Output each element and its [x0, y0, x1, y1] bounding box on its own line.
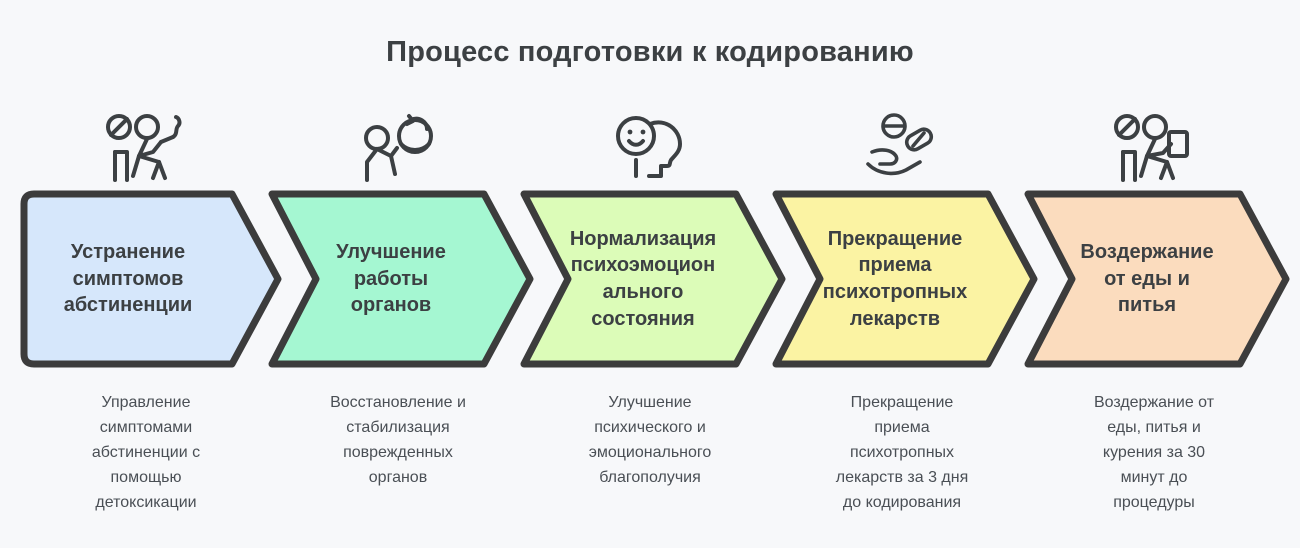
infographic-root: Процесс подготовки к кодированию [0, 0, 1300, 546]
step-caption-4: Прекращение приема психотропных лекарств… [778, 391, 1026, 516]
step-caption-5: Воздержание от еды, питья и курения за 3… [1030, 391, 1278, 516]
chevron-banner-4[interactable]: Прекращение приема психотропных лекарств [772, 190, 1047, 368]
person-smoking-prohibited-icon [16, 108, 276, 188]
process-step-3[interactable]: Нормализация психоэмоцион ального состоя… [520, 108, 780, 548]
step-caption-2: Восстановление и стабилизация поврежденн… [274, 391, 522, 491]
person-eating-prohibited-icon [1024, 108, 1284, 188]
process-step-2[interactable]: Улучшение работы органов Восстановление … [268, 108, 528, 548]
head-smiley-mind-icon [520, 108, 780, 188]
chevron-banner-2[interactable]: Улучшение работы органов [268, 190, 543, 368]
process-step-5[interactable]: Воздержание от еды и питья Воздержание о… [1024, 108, 1284, 548]
page-title: Процесс подготовки к кодированию [0, 36, 1300, 69]
chevron-banner-3[interactable]: Нормализация психоэмоцион ального состоя… [520, 190, 795, 368]
process-step-1[interactable]: Устранение симптомов абстиненции Управле… [16, 108, 276, 548]
chevron-banner-1[interactable]: Устранение симптомов абстиненции [16, 190, 291, 368]
hand-holding-pills-icon [772, 108, 1032, 188]
process-step-4[interactable]: Прекращение приема психотропных лекарств… [772, 108, 1032, 548]
chevron-banner-5[interactable]: Воздержание от еды и питья [1024, 190, 1299, 368]
process-steps: Устранение симптомов абстиненции Управле… [0, 108, 1300, 548]
person-recovery-refresh-icon [268, 108, 528, 188]
step-caption-1: Управление симптомами абстиненции с помо… [22, 391, 270, 516]
step-caption-3: Улучшение психического и эмоционального … [526, 391, 774, 491]
